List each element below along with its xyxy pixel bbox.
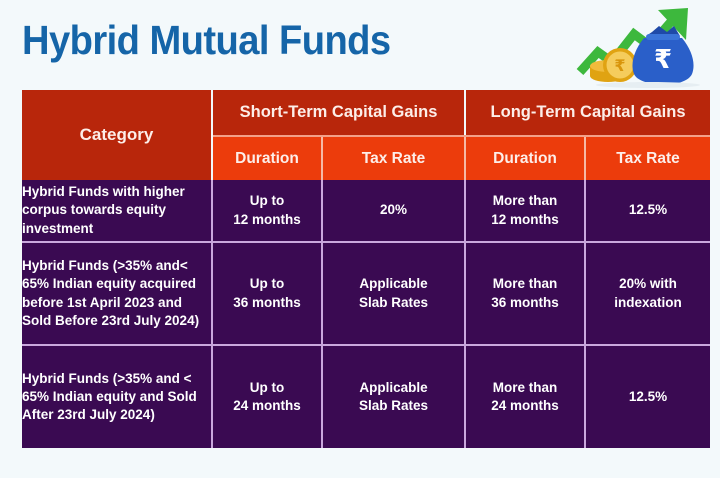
column-header-lt-duration: Duration (465, 136, 585, 180)
page-title: Hybrid Mutual Funds (22, 17, 391, 64)
cell-st-duration: Up to 36 months (212, 242, 322, 345)
cell-lt-tax-rate: 20% with indexation (585, 242, 710, 345)
cell-st-duration: Up to 24 months (212, 345, 322, 448)
cell-lt-tax-rate: 12.5% (585, 180, 710, 242)
header-area: Hybrid Mutual Funds ₹ ₹ (0, 0, 720, 90)
cell-category: Hybrid Funds with higher corpus towards … (22, 180, 212, 242)
table-row: Hybrid Funds with higher corpus towards … (22, 180, 710, 242)
column-header-category: Category (22, 90, 212, 180)
money-bag-growth-arrow-icon: ₹ ₹ (572, 6, 700, 88)
cell-st-tax-rate: Applicable Slab Rates (322, 242, 465, 345)
cell-lt-duration: More than 12 months (465, 180, 585, 242)
cell-lt-duration: More than 24 months (465, 345, 585, 448)
cell-category: Hybrid Funds (>35% and < 65% Indian equi… (22, 345, 212, 448)
column-group-short-term-capital-gains: Short-Term Capital Gains (212, 90, 465, 136)
column-group-long-term-capital-gains: Long-Term Capital Gains (465, 90, 710, 136)
svg-text:₹: ₹ (654, 45, 672, 75)
cell-st-duration: Up to 12 months (212, 180, 322, 242)
column-header-st-tax-rate: Tax Rate (322, 136, 465, 180)
column-header-lt-tax-rate: Tax Rate (585, 136, 710, 180)
cell-st-tax-rate: Applicable Slab Rates (322, 345, 465, 448)
cell-st-tax-rate: 20% (322, 180, 465, 242)
svg-text:₹: ₹ (614, 56, 625, 75)
tax-rate-table: Category Short-Term Capital Gains Long-T… (22, 90, 710, 448)
table-row: Hybrid Funds (>35% and< 65% Indian equit… (22, 242, 710, 345)
column-header-st-duration: Duration (212, 136, 322, 180)
cell-lt-tax-rate: 12.5% (585, 345, 710, 448)
cell-category: Hybrid Funds (>35% and< 65% Indian equit… (22, 242, 212, 345)
table-header-group-row: Category Short-Term Capital Gains Long-T… (22, 90, 710, 136)
cell-lt-duration: More than 36 months (465, 242, 585, 345)
table-row: Hybrid Funds (>35% and < 65% Indian equi… (22, 345, 710, 448)
